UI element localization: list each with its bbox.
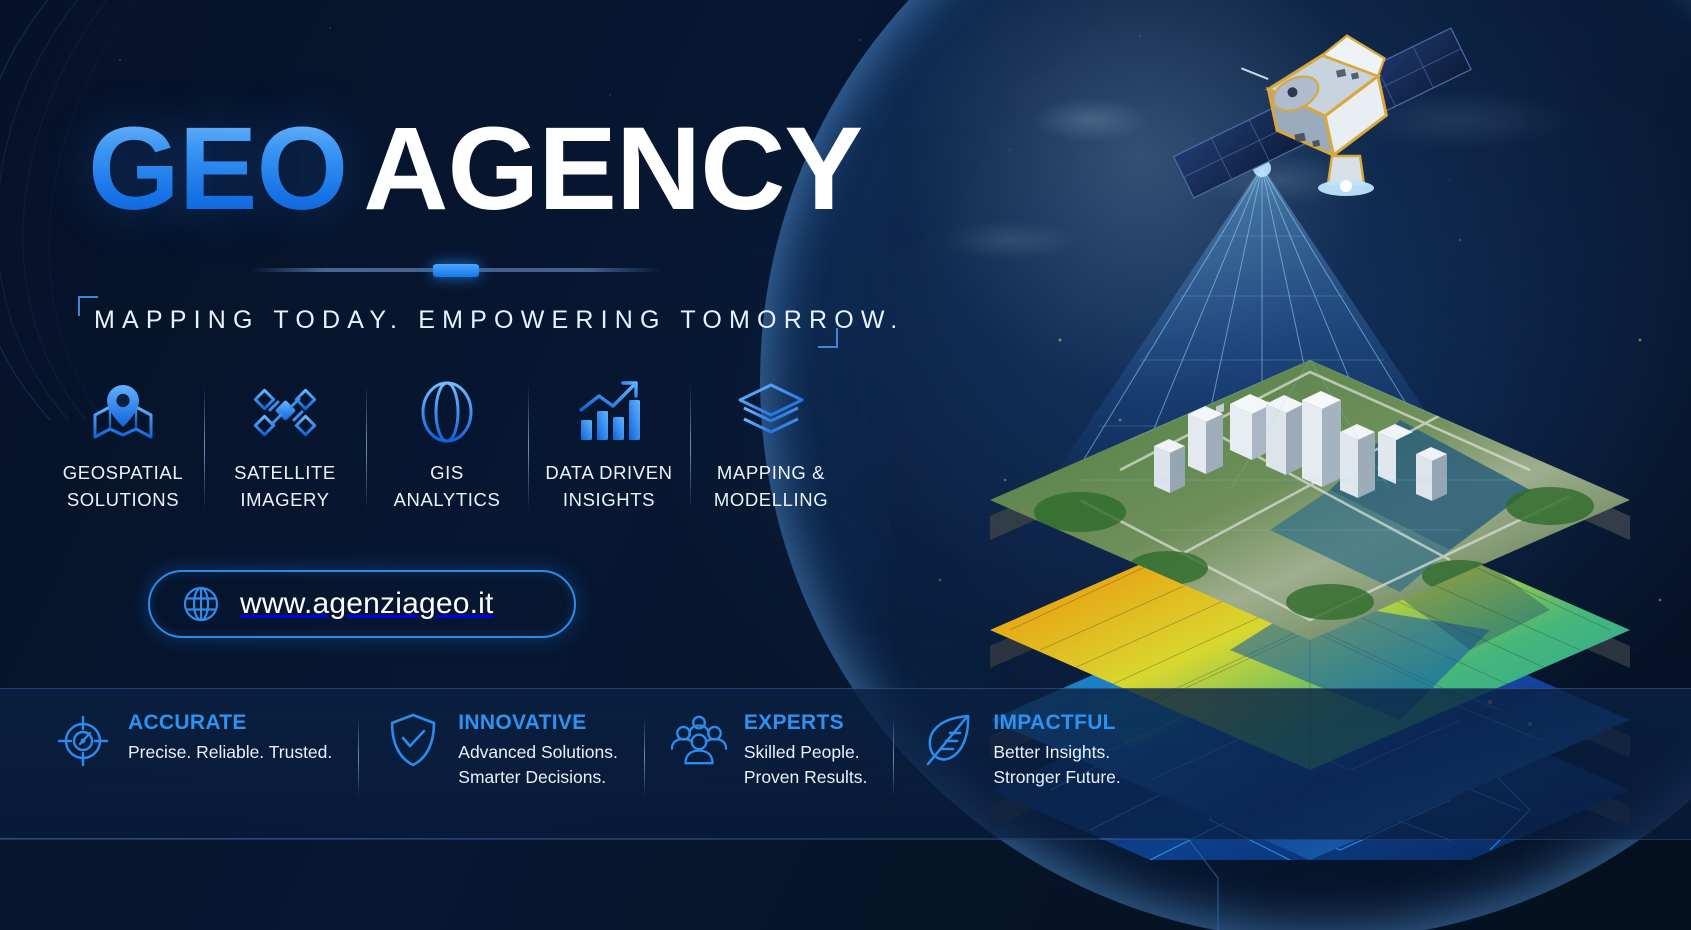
value-prop-accurate[interactable]: ACCURATE Precise. Reliable. Trusted. [28, 711, 358, 769]
feature-item-satellite-imagery[interactable]: SATELLITE IMAGERY [204, 376, 366, 514]
layers-icon [696, 376, 846, 448]
value-prop-line1: Skilled People. [744, 740, 868, 765]
value-prop-impactful[interactable]: IMPACTFUL Better Insights. Stronger Futu… [893, 711, 1146, 791]
website-url: www.agenziageo.it [240, 587, 494, 621]
website-button[interactable]: www.agenziageo.it [148, 570, 576, 638]
people-icon [670, 711, 728, 769]
value-prop-experts[interactable]: EXPERTS Skilled People. Proven Results. [644, 711, 894, 791]
feature-label-line2: ANALYTICS [372, 487, 522, 514]
map-pin-icon [48, 376, 198, 448]
feature-label-line1: MAPPING & [696, 460, 846, 487]
value-prop-line1: Advanced Solutions. [458, 740, 618, 765]
page-title: GEOAGENCY [88, 110, 862, 228]
feature-item-data-driven-insights[interactable]: DATA DRIVEN INSIGHTS [528, 376, 690, 514]
leaf-icon [919, 711, 977, 769]
footer-hairline [0, 838, 1115, 839]
value-prop-title: INNOVATIVE [458, 711, 618, 735]
value-prop-title: EXPERTS [744, 711, 868, 735]
chart-up-icon [534, 376, 684, 448]
feature-label-line1: DATA DRIVEN [534, 460, 684, 487]
feature-item-geospatial-solutions[interactable]: GEOSPATIAL SOLUTIONS [42, 376, 204, 514]
satellite-icon [210, 376, 360, 448]
value-prop-line1: Better Insights. [993, 740, 1120, 765]
feature-item-gis-analytics[interactable]: GIS ANALYTICS [366, 376, 528, 514]
feature-label-line2: INSIGHTS [534, 487, 684, 514]
feature-label-line2: MODELLING [696, 487, 846, 514]
value-prop-line1: Precise. Reliable. Trusted. [128, 740, 332, 765]
title-secondary: AGENCY [363, 103, 862, 235]
feature-label-line1: GIS [372, 460, 522, 487]
footer-hairline-corner [1100, 838, 1220, 930]
hero-banner: GEOAGENCY MAPPING TODAY. EMPOWERING TOMO… [0, 0, 1691, 930]
feature-label-line2: SOLUTIONS [48, 487, 198, 514]
title-divider [250, 268, 662, 272]
value-prop-line2: Stronger Future. [993, 765, 1120, 790]
shield-check-icon [384, 711, 442, 769]
value-prop-bar: ACCURATE Precise. Reliable. Trusted. INN… [0, 688, 1691, 840]
feature-label-line1: SATELLITE [210, 460, 360, 487]
feature-item-mapping-modelling[interactable]: MAPPING & MODELLING [690, 376, 852, 514]
tagline: MAPPING TODAY. EMPOWERING TOMORROW. [94, 306, 904, 335]
satellite-icon [1146, 18, 1476, 208]
value-prop-title: IMPACTFUL [993, 711, 1120, 735]
value-prop-innovative[interactable]: INNOVATIVE Advanced Solutions. Smarter D… [358, 711, 644, 791]
globe-icon [372, 376, 522, 448]
tagline-block: MAPPING TODAY. EMPOWERING TOMORROW. [78, 296, 838, 348]
target-icon [54, 711, 112, 769]
feature-list: GEOSPATIAL SOLUTIONS [42, 376, 852, 514]
divider-knob [433, 264, 479, 277]
globe-icon [182, 585, 220, 623]
feature-label-line2: IMAGERY [210, 487, 360, 514]
title-primary: GEO [88, 103, 363, 235]
value-prop-line2: Smarter Decisions. [458, 765, 618, 790]
feature-label-line1: GEOSPATIAL [48, 460, 198, 487]
value-prop-title: ACCURATE [128, 711, 332, 735]
value-prop-line2: Proven Results. [744, 765, 868, 790]
